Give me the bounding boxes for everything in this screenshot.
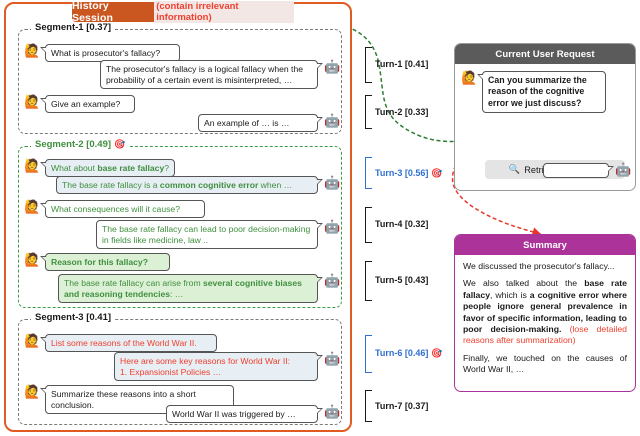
message-row: The base rate fallacy can lead to poor d… [96, 220, 339, 249]
turn-marker-5: Turn-5 [0.43] [375, 275, 428, 285]
user-message-bubble[interactable]: What about base rate fallacy? [45, 159, 175, 177]
message-row: 🙋 What about base rate fallacy? [24, 159, 175, 177]
assistant-message-bubble[interactable]: The prosecutor's fallacy is a logical fa… [100, 60, 318, 89]
user-avatar-icon: 🙋 [24, 159, 39, 173]
message-row: 🤖 [543, 163, 630, 178]
message-row: An example of … is … 🤖 [198, 114, 339, 132]
turn-marker-3: Turn-3 [0.56] 🎯 [375, 168, 443, 178]
current-request-bubble[interactable]: Can you summarize the reason of the cogn… [482, 71, 606, 113]
user-avatar-icon: 🙋 [24, 95, 39, 109]
message-row: 🙋 List some reasons of the World War II. [24, 334, 217, 352]
target-badge-icon: 🎯 [431, 349, 442, 358]
assistant-message-bubble[interactable]: Here are some key reasons for World War … [114, 352, 318, 381]
user-message-bubble[interactable]: List some reasons of the World War II. [45, 334, 217, 352]
current-user-request-title: Current User Request [455, 44, 635, 64]
history-session-title: History Session [72, 0, 150, 24]
user-avatar-icon: 🙋 [24, 200, 39, 214]
message-row: 🙋 What consequences will it cause? [24, 200, 205, 218]
turn-marker-1: Turn-1 [0.41] [375, 59, 428, 69]
turn-marker-6: Turn-6 [0.46] 🎯 [375, 348, 443, 358]
user-message-bubble[interactable]: Give an example? [45, 95, 135, 113]
history-session-subtitle: (contain irrelevant information) [154, 1, 294, 23]
assistant-avatar-icon: 🤖 [324, 220, 339, 234]
turn-marker-7: Turn-7 [0.37] [375, 401, 428, 411]
assistant-avatar-icon: 🤖 [324, 176, 339, 190]
message-row: 🙋 Can you summarize the reason of the co… [461, 71, 606, 113]
message-row: 🙋 Give an example? [24, 95, 135, 113]
summary-paragraph-3: Finally, we touched on the causes of Wor… [463, 353, 627, 376]
summary-body: We discussed the prosecutor's fallacy...… [455, 255, 635, 381]
current-user-request-panel: Current User Request 🙋 Can you summarize… [454, 43, 636, 191]
assistant-avatar-icon: 🤖 [324, 274, 339, 288]
turn-marker-2: Turn-2 [0.33] [375, 107, 428, 117]
message-row: The base rate fallacy can arise from sev… [58, 274, 339, 303]
user-avatar-icon: 🙋 [24, 385, 39, 399]
message-row: World War II was triggered by … 🤖 [166, 405, 339, 423]
assistant-reply-bubble[interactable] [543, 163, 609, 178]
target-badge-icon: 🎯 [114, 140, 125, 149]
message-row: The prosecutor's fallacy is a logical fa… [100, 60, 339, 89]
history-session-header: History Session (contain irrelevant info… [72, 2, 294, 22]
message-row: The base rate fallacy is a common cognit… [56, 176, 339, 194]
target-badge-icon: 🎯 [431, 169, 442, 178]
summary-title: Summary [455, 235, 635, 255]
segment-2-label: Segment-2 [0.49] 🎯 [31, 139, 129, 150]
user-avatar-icon: 🙋 [24, 253, 39, 267]
turn-marker-4: Turn-4 [0.32] [375, 219, 428, 229]
search-icon: 🔍 [509, 164, 520, 175]
user-avatar-icon: 🙋 [24, 334, 39, 348]
assistant-avatar-icon: 🤖 [324, 352, 339, 366]
user-avatar-icon: 🙋 [461, 71, 476, 85]
assistant-avatar-icon: 🤖 [324, 60, 339, 74]
user-message-bubble[interactable]: What consequences will it cause? [45, 200, 205, 218]
message-row: Here are some key reasons for World War … [114, 352, 339, 381]
history-session-panel: History Session (contain irrelevant info… [4, 2, 352, 432]
user-message-bubble[interactable]: Reason for this fallacy? [45, 253, 170, 271]
assistant-message-bubble[interactable]: The base rate fallacy is a common cognit… [56, 176, 318, 194]
message-row: 🙋 Reason for this fallacy? [24, 253, 170, 271]
segment-3-label: Segment-3 [0.41] [31, 312, 115, 323]
summary-paragraph-1: We discussed the prosecutor's fallacy... [463, 261, 627, 272]
summary-panel: Summary We discussed the prosecutor's fa… [454, 234, 636, 392]
segment-1-label: Segment-1 [0.37] [31, 22, 115, 33]
assistant-avatar-icon: 🤖 [615, 163, 630, 177]
assistant-avatar-icon: 🤖 [324, 405, 339, 419]
assistant-message-bubble[interactable]: The base rate fallacy can arise from sev… [58, 274, 318, 303]
user-avatar-icon: 🙋 [24, 44, 39, 58]
assistant-avatar-icon: 🤖 [324, 114, 339, 128]
assistant-message-bubble[interactable]: World War II was triggered by … [166, 405, 318, 423]
assistant-message-bubble[interactable]: The base rate fallacy can lead to poor d… [96, 220, 318, 249]
summary-paragraph-2: We also talked about the base rate falla… [463, 278, 627, 346]
assistant-message-bubble[interactable]: An example of … is … [198, 114, 318, 132]
